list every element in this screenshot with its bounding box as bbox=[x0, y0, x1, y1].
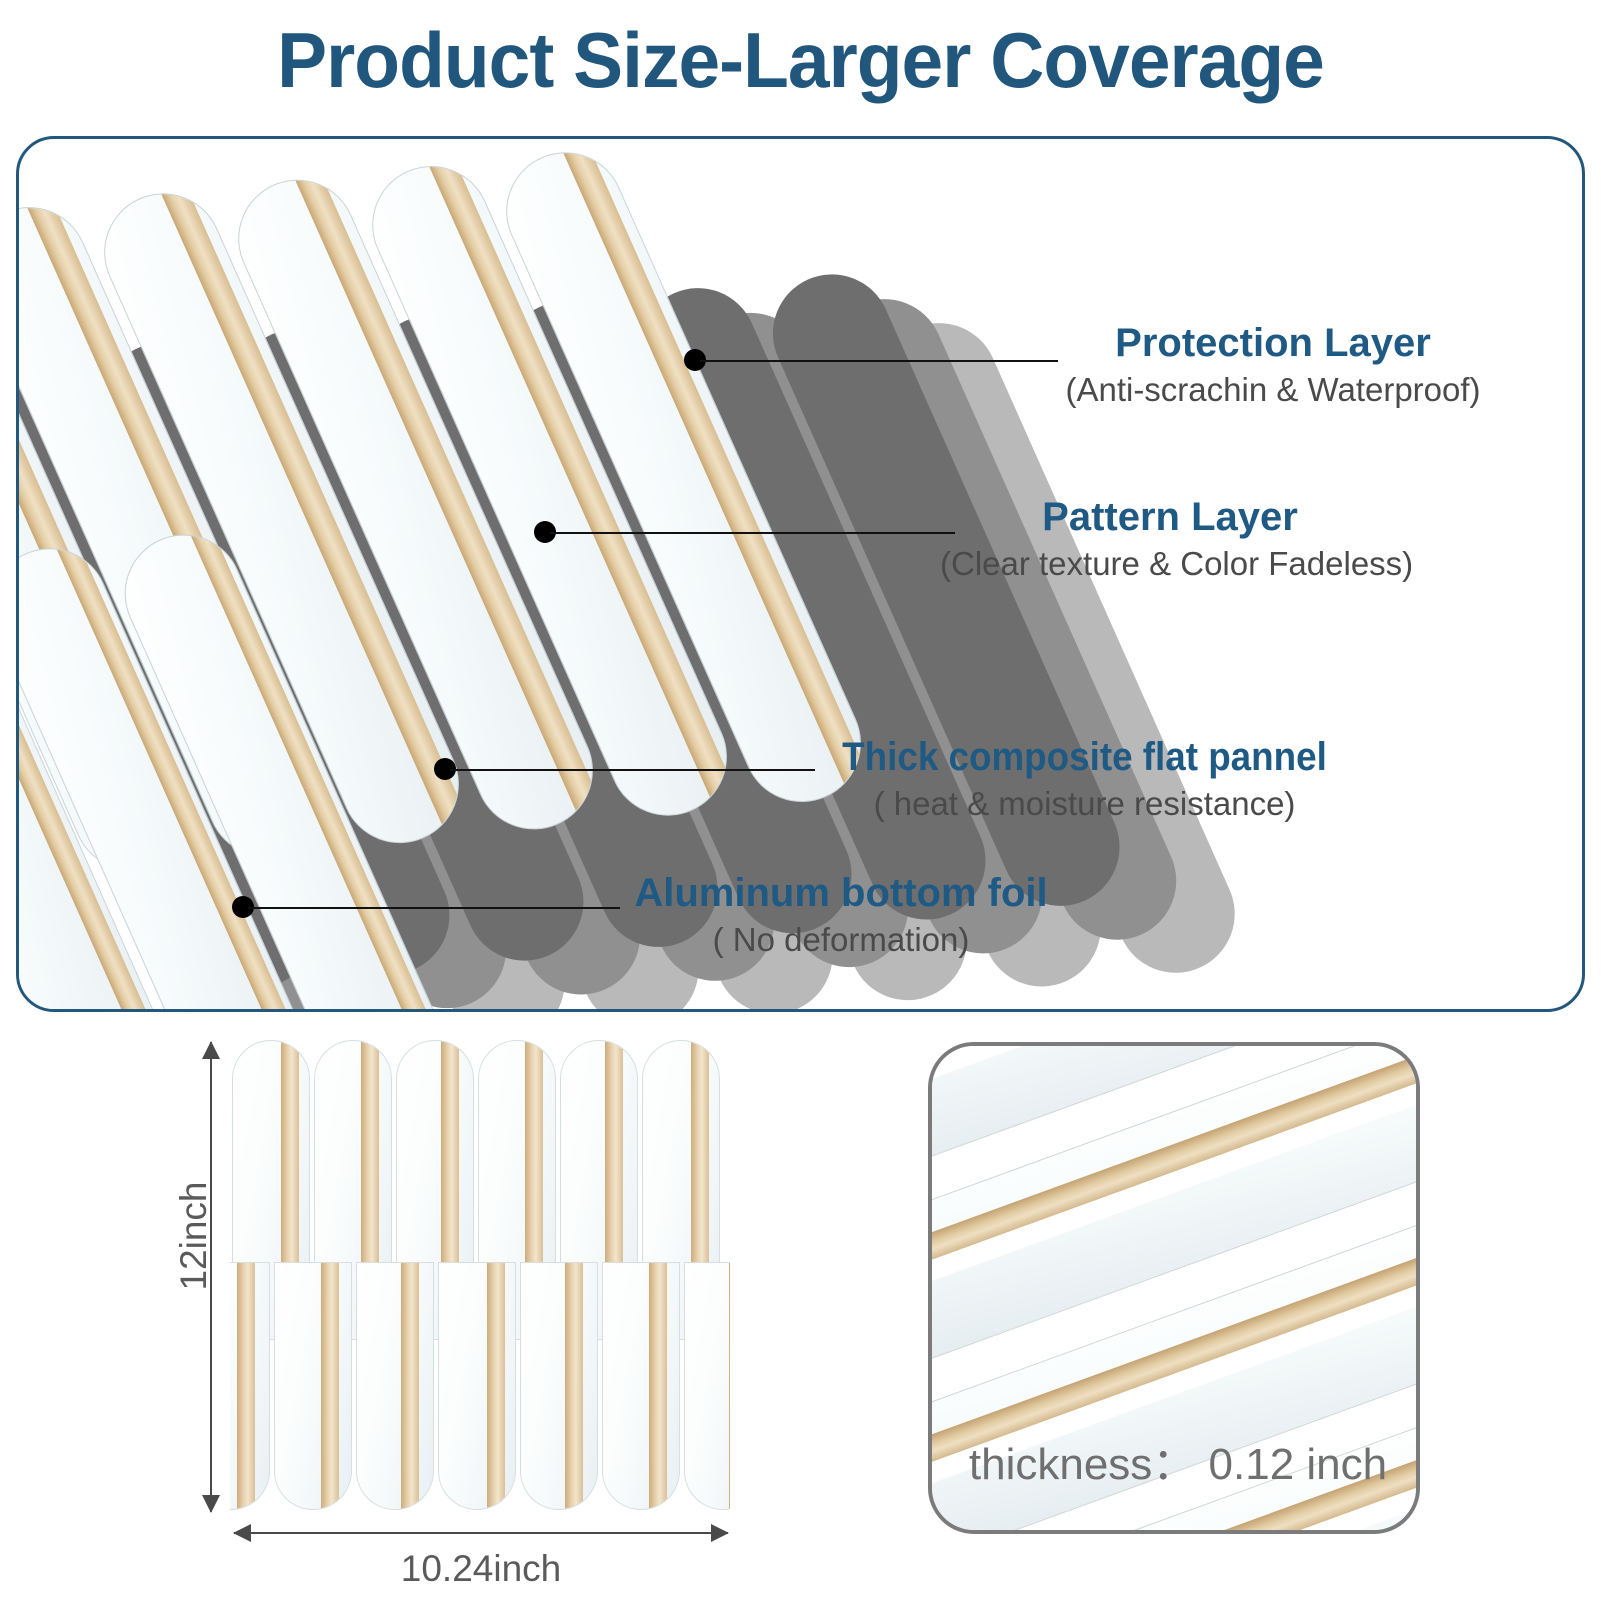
callout-leader-aluminum-bottom-foil bbox=[248, 907, 620, 909]
size-diagram-tiles bbox=[230, 1040, 730, 1510]
size-diagram: 12inch 10.24inch bbox=[152, 1020, 752, 1590]
callout-title: Protection Layer bbox=[1058, 318, 1488, 368]
callout-protection-layer: Protection Layer (Anti-scrachin & Waterp… bbox=[1058, 318, 1488, 412]
callout-subtitle: ( heat & moisture resistance) bbox=[812, 782, 1357, 826]
callout-subtitle: (Anti-scrachin & Waterproof) bbox=[1058, 368, 1488, 412]
callout-title: Thick composite flat pannel bbox=[834, 732, 1335, 782]
callout-leader-thick-composite-flat-pannel bbox=[450, 769, 815, 771]
callout-title: Pattern Layer bbox=[940, 492, 1400, 542]
callout-title: Aluminum bottom foil bbox=[616, 868, 1066, 918]
thickness-panel: thickness： 0.12 inch bbox=[928, 1042, 1420, 1534]
callout-leader-pattern-layer bbox=[550, 532, 955, 534]
page-title: Product Size-Larger Coverage bbox=[32, 14, 1569, 106]
callout-pattern-layer: Pattern Layer (Clear texture & Color Fad… bbox=[940, 492, 1400, 586]
callout-aluminum-bottom-foil: Aluminum bottom foil ( No deformation) bbox=[616, 868, 1066, 962]
callout-subtitle: (Clear texture & Color Fadeless) bbox=[940, 542, 1400, 586]
width-dimension-label: 10.24inch bbox=[234, 1548, 728, 1590]
callout-thick-composite-flat-pannel: Thick composite flat pannel ( heat & moi… bbox=[812, 732, 1357, 826]
height-dimension-label: 12inch bbox=[173, 1146, 215, 1326]
width-dimension-arrow bbox=[234, 1532, 728, 1534]
callout-subtitle: ( No deformation) bbox=[616, 918, 1066, 962]
product-infographic: Product Size-Larger Coverage bbox=[0, 0, 1601, 1601]
thickness-label: thickness： 0.12 inch bbox=[932, 1428, 1420, 1492]
callout-leader-protection-layer bbox=[700, 360, 1058, 362]
